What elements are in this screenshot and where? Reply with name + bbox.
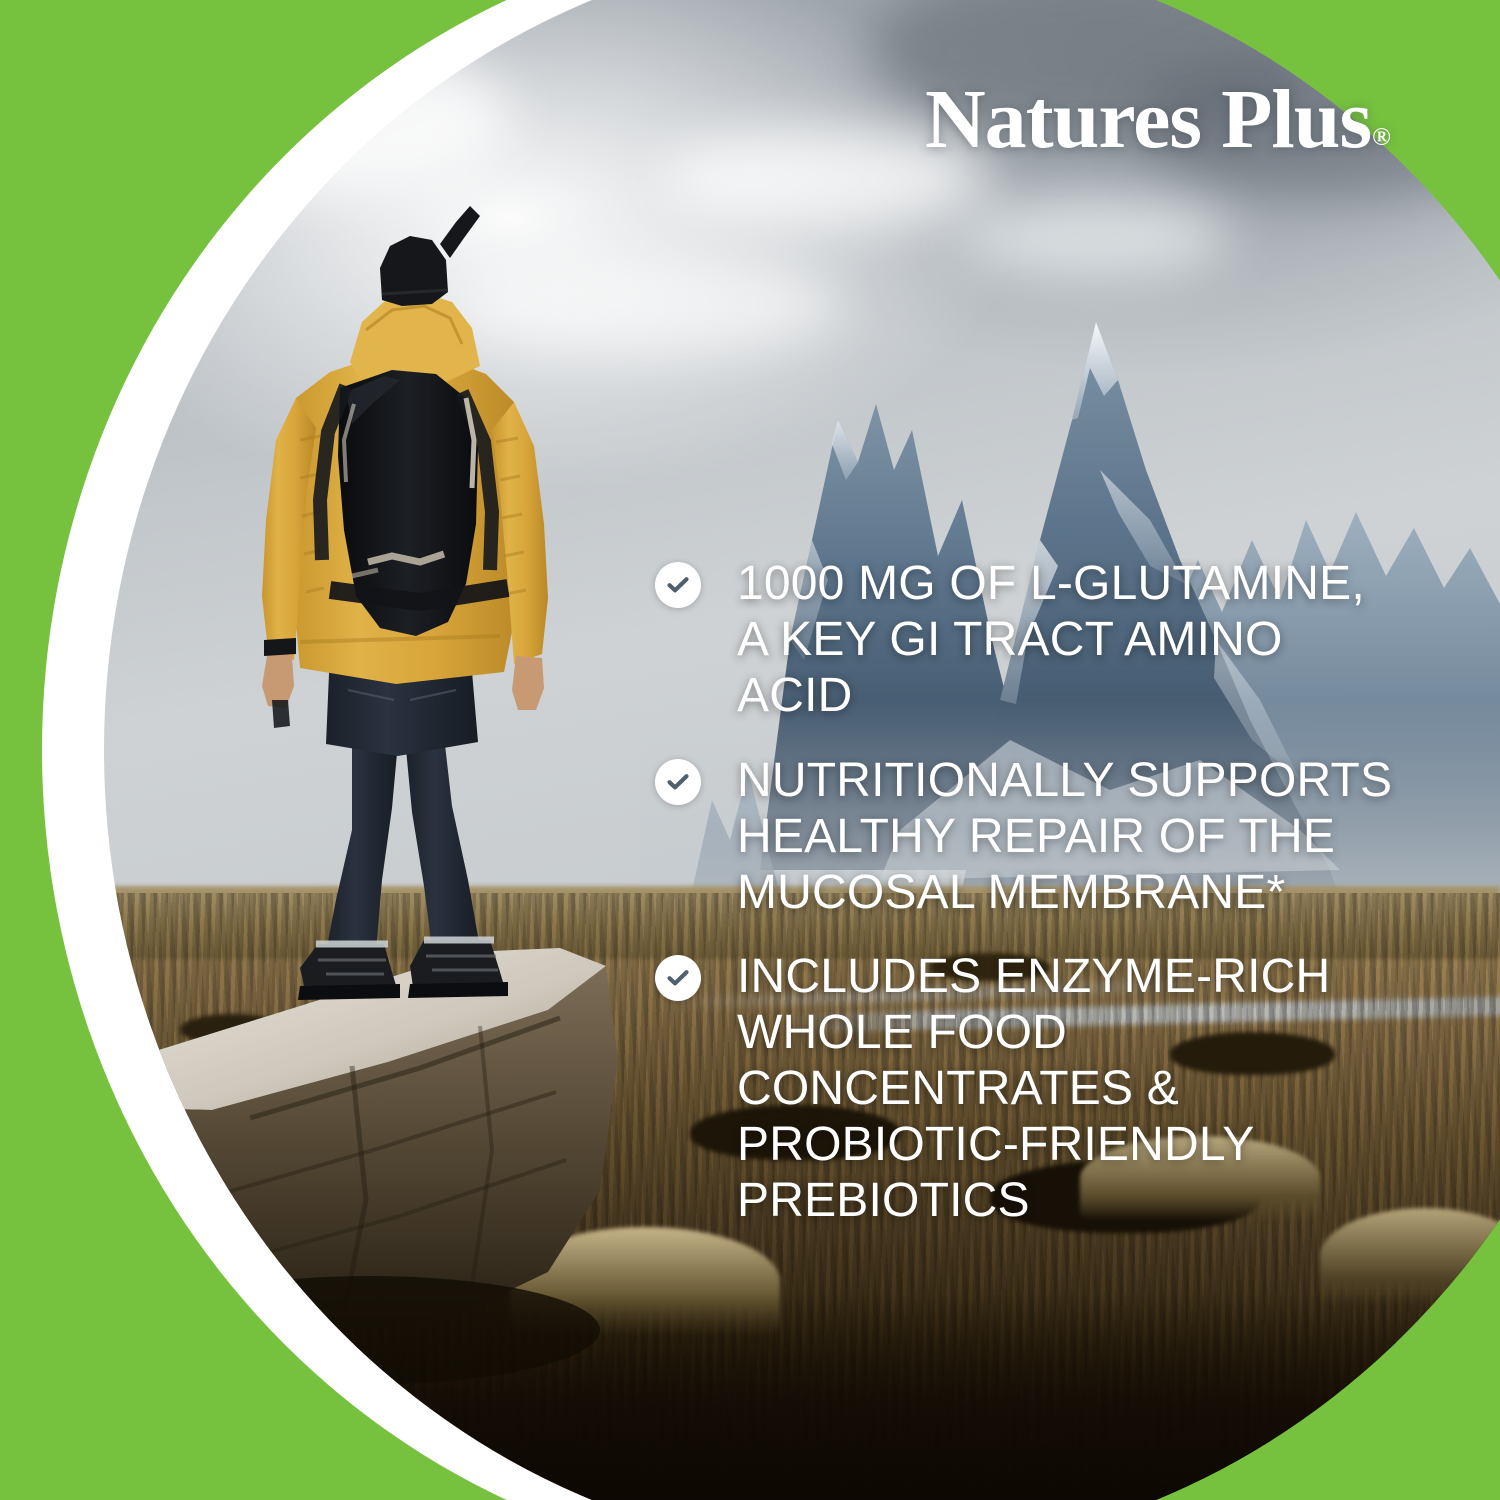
registered-trademark-icon: ®	[1372, 124, 1391, 151]
marketing-image: Natures Plus® 1000 MG OF L-GLUTAMINE, A …	[0, 0, 1500, 1500]
brand-logo: Natures Plus®	[925, 78, 1390, 162]
feature-text: 1000 MG OF L-GLUTAMINE, A KEY GI TRACT A…	[737, 557, 1365, 722]
feature-text: NUTRITIONALLY SUPPORTS HEALTHY REPAIR OF…	[737, 754, 1392, 919]
check-icon	[655, 955, 701, 1001]
feature-text: INCLUDES ENZYME-RICH WHOLE FOOD CONCENTR…	[737, 950, 1330, 1227]
check-icon	[655, 759, 701, 805]
feature-list: 1000 MG OF L-GLUTAMINE, A KEY GI TRACT A…	[655, 556, 1455, 1229]
brand-logo-text: Natures Plus	[925, 73, 1371, 166]
list-item: NUTRITIONALLY SUPPORTS HEALTHY REPAIR OF…	[655, 753, 1455, 921]
list-item: 1000 MG OF L-GLUTAMINE, A KEY GI TRACT A…	[655, 556, 1455, 724]
list-item: INCLUDES ENZYME-RICH WHOLE FOOD CONCENTR…	[655, 949, 1455, 1229]
check-icon	[655, 562, 701, 608]
